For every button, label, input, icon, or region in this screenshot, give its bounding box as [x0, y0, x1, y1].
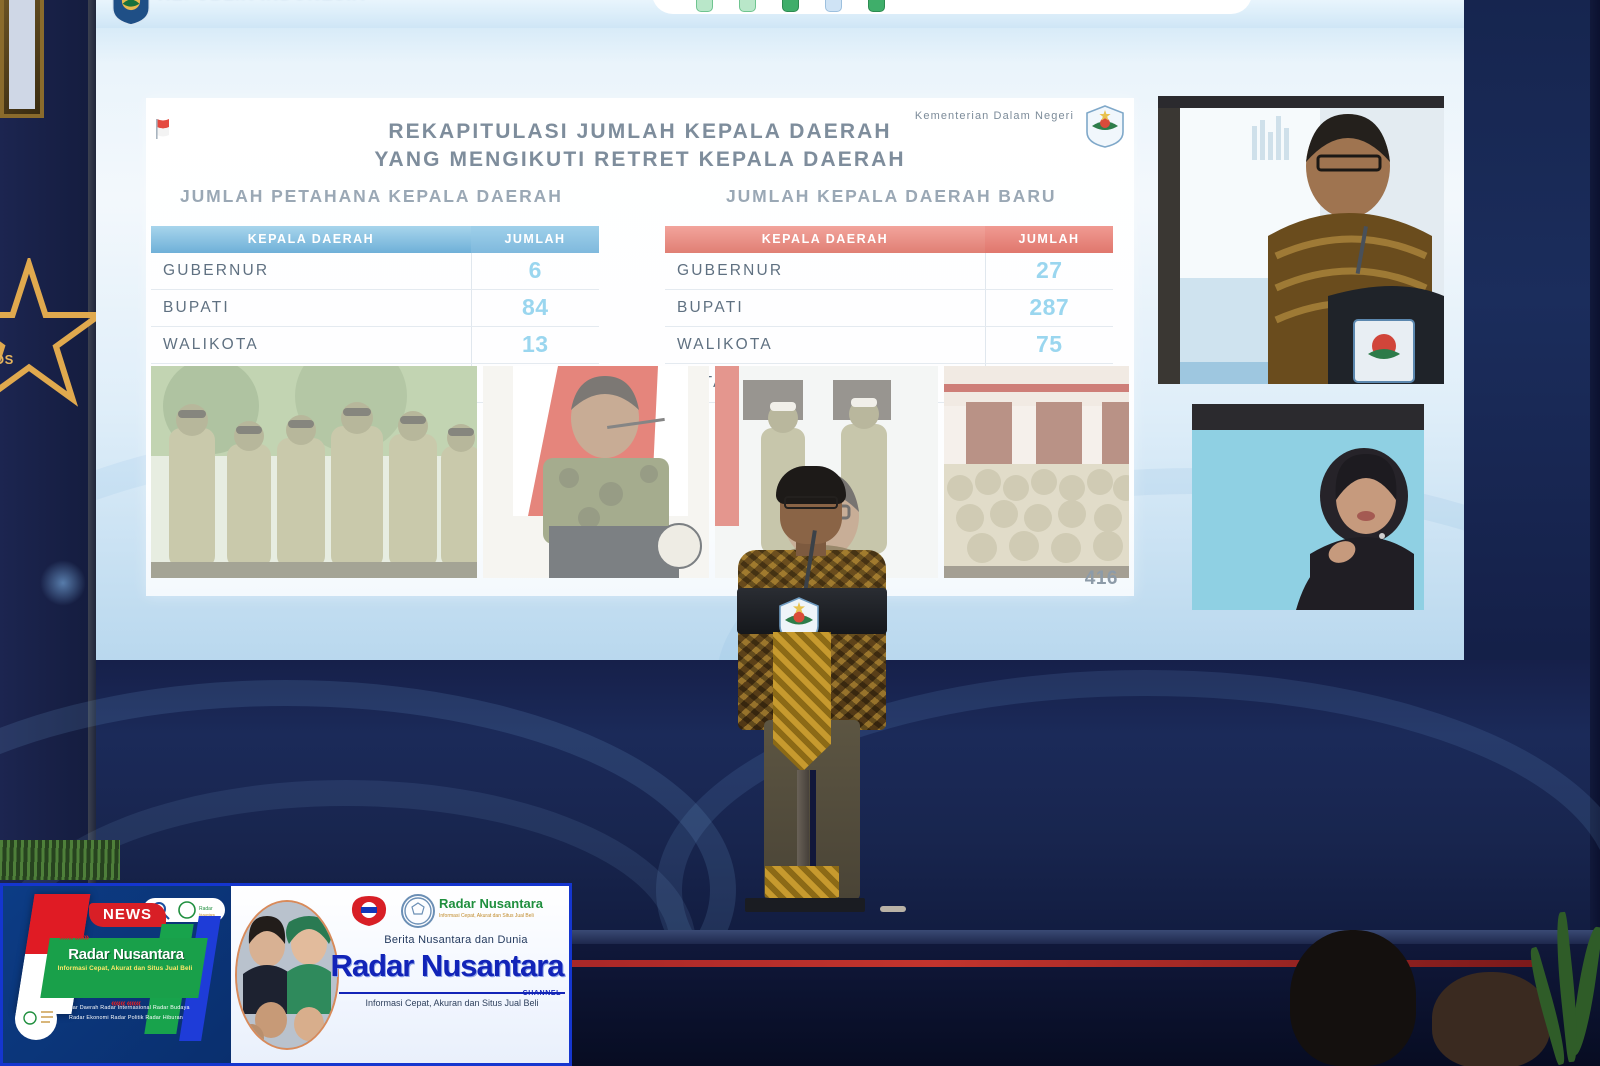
row-value: 13 [471, 327, 599, 364]
row-label: GUBERNUR [151, 253, 471, 290]
news-badge: NEWS [89, 903, 166, 927]
institution-label: REPUBLIK INDONESIA [158, 0, 366, 4]
table-row: GUBERNUR 6 [151, 253, 599, 290]
table-row: WALIKOTA 13 [151, 327, 599, 364]
row-value: 6 [471, 253, 599, 290]
wall-picture-frame [0, 0, 44, 118]
floor-mic-base [880, 906, 906, 912]
led-app-bar [652, 0, 1252, 14]
app-icon [696, 0, 713, 12]
audience-head [1290, 930, 1416, 1066]
row-label: GUBERNUR [665, 253, 985, 290]
overlay-left-tagline: Informasi Cepat, Akurat dan Situs Jual B… [47, 965, 203, 972]
photo-wash [944, 366, 1129, 578]
overlay-logo-word: Radar Nusantara [439, 896, 543, 911]
row-label: BUPATI [151, 290, 471, 327]
column-header-jumlah: JUMLAH [471, 226, 599, 253]
overlay-left-brand: Radar Nusantara [53, 946, 199, 963]
decorative-grass [0, 840, 120, 880]
app-icon [782, 0, 799, 12]
section-heading-baru-text: JUMLAH KEPALA DAERAH BARU [726, 186, 1056, 206]
podium-front-panel [773, 632, 831, 772]
decorative-plant [1530, 886, 1600, 1066]
radar-brand-mark-icon [349, 894, 389, 928]
table-header-row: KEPALA DAERAH JUMLAH [151, 226, 599, 253]
row-value: 84 [471, 290, 599, 327]
table-header-row: KEPALA DAERAH JUMLAH [665, 226, 1113, 253]
slide-title-line1: REKAPITULASI JUMLAH KEPALA DAERAH [146, 118, 1134, 146]
slide-photo-strip [151, 366, 1129, 578]
photo-wash [483, 366, 709, 578]
podium [737, 588, 887, 908]
speaker-feed-panel[interactable] [1158, 96, 1444, 384]
photo-retret-group-fatigues [151, 366, 477, 578]
presentation-slide: Kementerian Dalam Negeri REKAPITULASI JU… [146, 98, 1134, 596]
overlay-logo-sub: Informasi Cepat, Akurat dan Situs Jual B… [439, 913, 534, 919]
photo-wash [151, 366, 477, 578]
overlay-right-panel: Radar Nusantara Informasi Cepat, Akurat … [231, 886, 569, 1063]
screenshot-root: OS REPUBLIK INDONESIA [0, 0, 1600, 1066]
led-app-bar-text [668, 3, 670, 12]
overlay-title: Radar Nusantara [327, 948, 567, 984]
row-label: BUPATI [665, 290, 985, 327]
app-icon [868, 0, 885, 12]
slide-title: REKAPITULASI JUMLAH KEPALA DAERAH YANG M… [146, 118, 1134, 174]
news-channel-overlay: Radar Nusantara NEWS »»» »»» Radar Nusan… [0, 883, 572, 1066]
section-heading-petahana: JUMLAH PETAHANA KEPALA DAERAH [180, 186, 563, 207]
row-value: 287 [985, 290, 1113, 327]
column-header-kepala-daerah: KEPALA DAERAH [665, 226, 985, 253]
football-icon [401, 894, 435, 928]
overlay-host-photos [235, 900, 339, 1050]
row-label: WALIKOTA [665, 327, 985, 364]
svg-text:Radar: Radar [199, 906, 213, 912]
gold-star-outline-icon [0, 258, 104, 408]
table-row: BUPATI 84 [151, 290, 599, 327]
table-row: GUBERNUR 27 [665, 253, 1113, 290]
photo-participants-formation [944, 366, 1129, 578]
podium-stem [797, 770, 809, 875]
wall-picture-canvas [9, 0, 35, 109]
section-heading-baru: JUMLAH KEPALA DAERAH BARU [726, 186, 1056, 207]
column-header-kepala-daerah: KEPALA DAERAH [151, 226, 471, 253]
row-value: 27 [985, 253, 1113, 290]
row-value: 75 [985, 327, 1113, 364]
section-heading-petahana-text: JUMLAH PETAHANA KEPALA DAERAH [180, 186, 563, 206]
row-label: WALIKOTA [151, 327, 471, 364]
slide-page-number: 416 [1085, 568, 1118, 590]
sign-language-feed-panel[interactable] [1192, 404, 1424, 610]
garuda-crest-icon [110, 0, 152, 26]
category-line-1: Radar Daerah Radar Internasional Radar B… [43, 1003, 209, 1013]
app-icon [739, 0, 756, 12]
chevrons-right-icon: »»» »»» [59, 932, 88, 943]
category-line-2: Radar Ekonomi Radar Politik Radar Hibura… [43, 1013, 209, 1023]
lens-flare [40, 560, 86, 606]
overlay-left-panel: Radar Nusantara NEWS »»» »»» Radar Nusan… [3, 886, 231, 1063]
column-header-jumlah: JUMLAH [985, 226, 1113, 253]
table-row: BUPATI 287 [665, 290, 1113, 327]
slide-title-line2: YANG MENGIKUTI RETRET KEPALA DAERAH [146, 146, 1134, 174]
speaker-glasses [784, 496, 838, 509]
overlay-category-list: Radar Daerah Radar Internasional Radar B… [43, 1003, 209, 1023]
photo-president-podium [483, 366, 709, 578]
app-icon [825, 0, 842, 12]
wall-partial-word: OS [0, 352, 14, 367]
overlay-tagline: Informasi Cepat, Akuran dan Situs Jual B… [327, 998, 572, 1008]
podium-foot [745, 898, 865, 912]
overlay-channel-tag: CHANNEL [523, 990, 561, 997]
overlay-kicker: Berita Nusantara dan Dunia [341, 934, 571, 946]
table-row: WALIKOTA 75 [665, 327, 1113, 364]
